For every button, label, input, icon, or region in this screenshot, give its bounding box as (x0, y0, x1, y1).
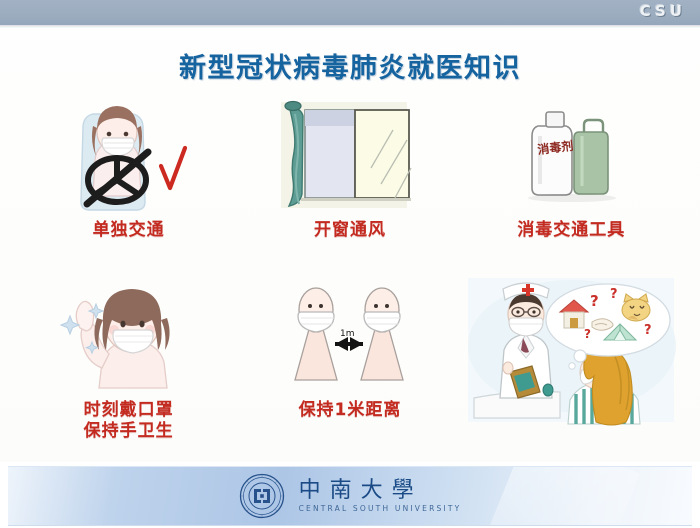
card-solo-transport: 单独交通 (18, 96, 239, 276)
top-bar (0, 0, 700, 25)
caption-line-1: 消毒交通工具 (517, 220, 625, 240)
caption-line-1: 开窗通风 (314, 220, 386, 240)
university-name-en: CENTRAL SOUTH UNIVERSITY (299, 504, 462, 513)
caption-open-window: 开窗通风 (314, 220, 386, 241)
card-nurse-consultation: ? ? ? ? (461, 276, 682, 456)
art-mask-hand-hygiene (18, 276, 239, 394)
footer-content: 中南大學 CENTRAL SOUTH UNIVERSITY (8, 467, 692, 525)
girl-mask-clean-hand-icon (44, 276, 214, 394)
university-name-block: 中南大學 CENTRAL SOUTH UNIVERSITY (299, 479, 462, 513)
washing-hands-icon (592, 319, 613, 331)
distance-arrow-icon (335, 337, 363, 351)
question-mark-icon: ? (590, 292, 599, 310)
art-keep-distance: 1m (239, 276, 460, 394)
slide: CSU 新型冠状病毒肺炎就医知识 (0, 0, 700, 528)
card-keep-distance: 1m 保持1米距离 (239, 276, 460, 456)
distance-label-text: 1m (340, 329, 355, 339)
open-window-curtain-icon (265, 96, 435, 214)
caption-keep-distance: 保持1米距离 (299, 400, 402, 421)
caption-disinfect-vehicle: 消毒交通工具 (517, 220, 625, 241)
person-driving-car-alone-icon (49, 96, 209, 214)
disinfectant-spray-bottles-icon: 消毒剂 (486, 96, 656, 214)
figure-right (361, 288, 403, 380)
university-name-cn: 中南大學 (299, 479, 462, 503)
caption-mask-hand-hygiene: 时刻戴口罩 保持手卫生 (84, 400, 174, 443)
figure-left (295, 288, 337, 380)
caption-line-1: 单独交通 (93, 220, 165, 240)
pictogram-grid: 单独交通 (18, 96, 682, 456)
two-people-distance-icon: 1m (265, 276, 435, 394)
question-mark-icon: ? (610, 287, 618, 302)
footer-band: 中南大學 CENTRAL SOUTH UNIVERSITY (8, 466, 692, 526)
slide-footer: 中南大學 CENTRAL SOUTH UNIVERSITY (0, 462, 700, 528)
red-check-icon (161, 148, 185, 188)
card-disinfect-vehicle: 消毒剂 消毒交通工具 (461, 96, 682, 276)
art-open-window (239, 96, 460, 214)
caption-solo-transport: 单独交通 (93, 220, 165, 241)
question-mark-icon: ? (644, 323, 652, 338)
nurse-and-patient-thought-bubble-icon: ? ? ? ? (464, 276, 679, 426)
art-solo-transport (18, 96, 239, 214)
card-mask-hand-hygiene: 时刻戴口罩 保持手卫生 (18, 276, 239, 456)
csu-wordmark: CSU (640, 2, 686, 20)
slide-title: 新型冠状病毒肺炎就医知识 (0, 46, 700, 85)
csu-seal-icon (239, 473, 285, 519)
caption-line-1: 保持1米距离 (299, 400, 402, 420)
top-bar-divider (0, 25, 700, 28)
card-open-window: 开窗通风 (239, 96, 460, 276)
question-mark-icon: ? (584, 327, 591, 341)
art-disinfect-vehicle: 消毒剂 (461, 96, 682, 214)
art-nurse-consultation: ? ? ? ? (461, 276, 682, 426)
caption-line-1: 时刻戴口罩 (84, 400, 174, 420)
caption-line-2: 保持手卫生 (84, 421, 174, 442)
